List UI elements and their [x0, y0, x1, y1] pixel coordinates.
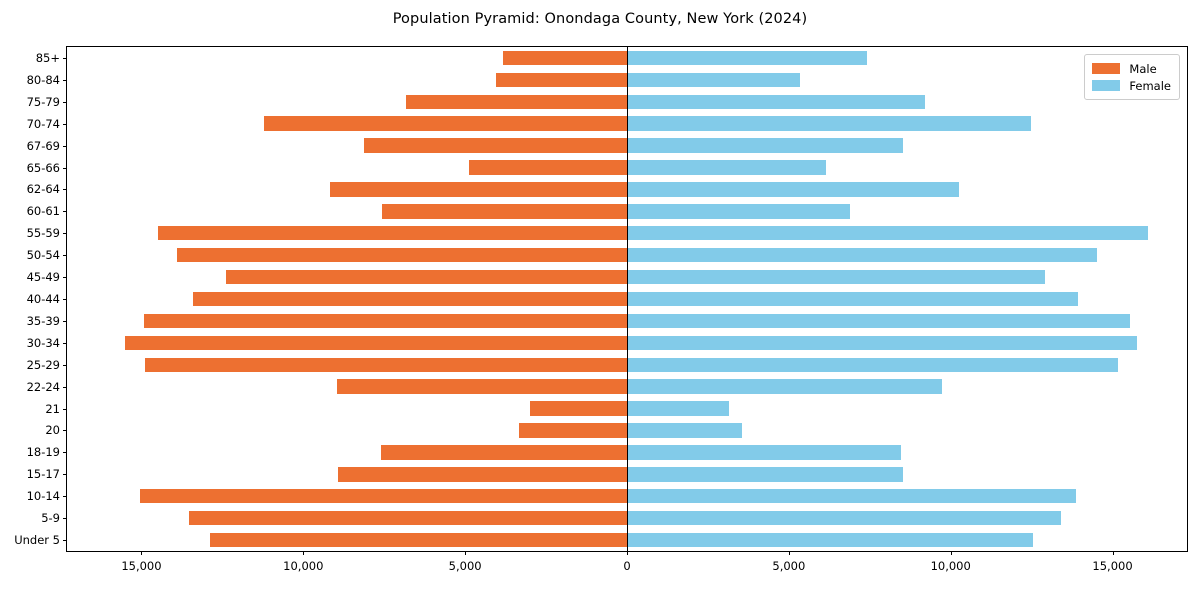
- bar-female: [627, 401, 729, 415]
- y-tick-label: 80-84: [27, 73, 60, 87]
- bar-female: [627, 511, 1061, 525]
- bar-female: [627, 533, 1033, 547]
- bar-male: [210, 533, 627, 547]
- y-tick-mark: [63, 146, 67, 147]
- y-tick-label: 62-64: [27, 182, 60, 196]
- y-tick-mark: [63, 58, 67, 59]
- y-tick-mark: [63, 343, 67, 344]
- bar-female: [627, 270, 1045, 284]
- legend-swatch-male: [1092, 63, 1120, 74]
- y-tick-mark: [63, 321, 67, 322]
- bar-male: [337, 379, 627, 393]
- bar-female: [627, 467, 903, 481]
- chart-title: Population Pyramid: Onondaga County, New…: [0, 11, 1200, 27]
- bar-male: [144, 314, 627, 328]
- chart-legend: Male Female: [1084, 54, 1180, 100]
- y-tick-label: 18-19: [27, 445, 60, 459]
- y-tick-label: 55-59: [27, 226, 60, 240]
- y-tick-label: 10-14: [27, 489, 60, 503]
- y-tick-label: 15-17: [27, 467, 60, 481]
- x-tick-label: 15,000: [1092, 559, 1132, 573]
- bar-male: [189, 511, 627, 525]
- legend-swatch-female: [1092, 80, 1120, 91]
- y-tick-mark: [63, 365, 67, 366]
- bar-female: [627, 182, 959, 196]
- x-tick-label: 15,000: [121, 559, 161, 573]
- bar-female: [627, 445, 901, 459]
- bar-female: [627, 336, 1137, 350]
- y-tick-label: 25-29: [27, 358, 60, 372]
- bar-female: [627, 314, 1130, 328]
- bar-female: [627, 73, 800, 87]
- y-tick-label: 60-61: [27, 204, 60, 218]
- y-tick-mark: [63, 189, 67, 190]
- y-tick-label: 50-54: [27, 248, 60, 262]
- bar-male: [140, 489, 627, 503]
- y-tick-label: 70-74: [27, 117, 60, 131]
- bar-male: [226, 270, 627, 284]
- bar-female: [627, 292, 1078, 306]
- y-tick-label: 21: [45, 402, 60, 416]
- chart-figure: Population Pyramid: Onondaga County, New…: [0, 0, 1200, 600]
- y-tick-mark: [63, 496, 67, 497]
- bar-male: [519, 423, 627, 437]
- x-tick-label: 10,000: [931, 559, 971, 573]
- x-tick-label: 5,000: [449, 559, 482, 573]
- x-tick-label: 10,000: [283, 559, 323, 573]
- zero-axis-line: [627, 47, 628, 551]
- bar-male: [193, 292, 627, 306]
- y-tick-mark: [63, 409, 67, 410]
- y-tick-mark: [63, 211, 67, 212]
- bar-female: [627, 51, 867, 65]
- y-tick-label: 5-9: [41, 511, 60, 525]
- y-tick-label: 30-34: [27, 336, 60, 350]
- y-tick-label: 67-69: [27, 139, 60, 153]
- x-tick-label: 0: [623, 559, 630, 573]
- bar-female: [627, 138, 903, 152]
- bar-female: [627, 489, 1076, 503]
- x-tick-label: 5,000: [772, 559, 805, 573]
- x-tick-mark: [1113, 551, 1114, 555]
- y-tick-mark: [63, 474, 67, 475]
- y-tick-mark: [63, 452, 67, 453]
- y-tick-label: 65-66: [27, 161, 60, 175]
- y-tick-label: 75-79: [27, 95, 60, 109]
- y-tick-mark: [63, 255, 67, 256]
- bar-female: [627, 95, 925, 109]
- bar-male: [381, 445, 627, 459]
- bar-female: [627, 204, 850, 218]
- legend-label-male: Male: [1129, 62, 1156, 76]
- y-tick-mark: [63, 80, 67, 81]
- legend-label-female: Female: [1129, 79, 1171, 93]
- bar-male: [330, 182, 627, 196]
- bar-female: [627, 379, 942, 393]
- y-tick-label: 85+: [36, 51, 60, 65]
- bar-male: [503, 51, 627, 65]
- y-tick-mark: [63, 387, 67, 388]
- bar-male: [382, 204, 627, 218]
- bar-male: [530, 401, 627, 415]
- y-tick-mark: [63, 277, 67, 278]
- bar-female: [627, 248, 1097, 262]
- y-tick-mark: [63, 299, 67, 300]
- bar-male: [406, 95, 627, 109]
- x-tick-mark: [465, 551, 466, 555]
- plot-area: 15,00010,0005,00005,00010,00015,000 85+8…: [66, 46, 1188, 552]
- y-tick-label: 40-44: [27, 292, 60, 306]
- bar-male: [264, 116, 627, 130]
- y-tick-label: 35-39: [27, 314, 60, 328]
- y-tick-label: 20: [45, 423, 60, 437]
- bar-male: [364, 138, 627, 152]
- bar-female: [627, 358, 1118, 372]
- y-tick-mark: [63, 233, 67, 234]
- y-tick-label: 22-24: [27, 380, 60, 394]
- legend-entry-female[interactable]: Female: [1092, 77, 1171, 94]
- bar-female: [627, 160, 826, 174]
- x-tick-mark: [951, 551, 952, 555]
- legend-entry-male[interactable]: Male: [1092, 60, 1171, 77]
- bar-female: [627, 116, 1031, 130]
- y-tick-mark: [63, 430, 67, 431]
- x-tick-mark: [627, 551, 628, 555]
- y-tick-label: Under 5: [14, 533, 60, 547]
- bar-male: [145, 358, 627, 372]
- bar-male: [338, 467, 627, 481]
- y-tick-mark: [63, 124, 67, 125]
- bar-male: [177, 248, 627, 262]
- y-tick-label: 45-49: [27, 270, 60, 284]
- x-tick-mark: [303, 551, 304, 555]
- y-tick-mark: [63, 518, 67, 519]
- bar-female: [627, 423, 742, 437]
- x-tick-mark: [789, 551, 790, 555]
- y-tick-mark: [63, 168, 67, 169]
- bar-female: [627, 226, 1148, 240]
- y-tick-mark: [63, 102, 67, 103]
- bar-male: [469, 160, 627, 174]
- bar-male: [158, 226, 627, 240]
- bar-male: [496, 73, 627, 87]
- y-tick-mark: [63, 540, 67, 541]
- x-tick-mark: [141, 551, 142, 555]
- bar-male: [125, 336, 627, 350]
